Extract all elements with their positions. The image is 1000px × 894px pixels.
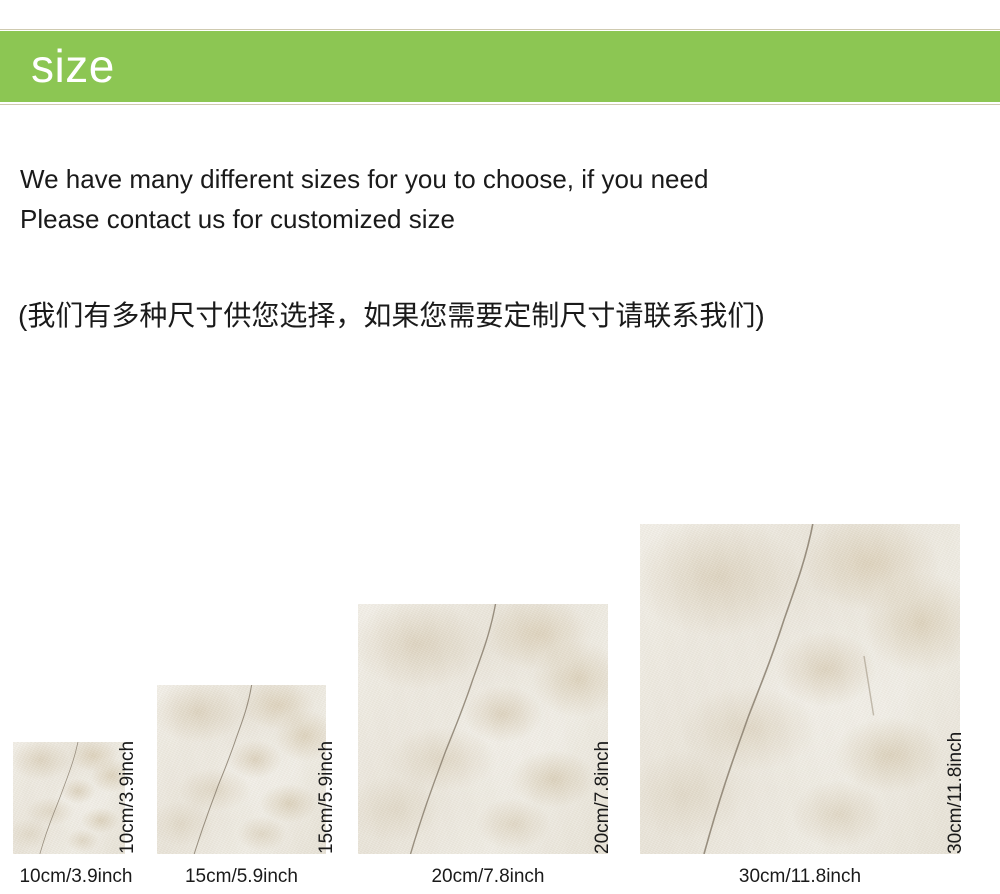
tile-group-10cm: 10cm/3.9inch 10cm/3.9inch	[0, 480, 152, 894]
tile-bottom-label-10cm: 10cm/3.9inch	[6, 860, 146, 894]
tile-swatch-15cm	[157, 685, 326, 854]
tile-group-20cm: 20cm/7.8inch 20cm/7.8inch	[342, 480, 640, 894]
tile-group-15cm: 15cm/5.9inch 15cm/5.9inch	[152, 480, 342, 894]
tile-vein-overlay	[640, 524, 960, 854]
tile-group-30cm: 30cm/11.8inch 30cm/11.8inch	[640, 480, 1000, 894]
tile-side-label-30cm: 30cm/11.8inch	[945, 732, 967, 854]
size-banner: size	[0, 31, 1000, 102]
tile-vein-overlay	[13, 742, 125, 854]
intro-text-english: We have many different sizes for you to …	[20, 159, 960, 239]
size-gallery: 10cm/3.9inch 10cm/3.9inch 15cm/5.9inch 1…	[0, 440, 1000, 894]
tile-swatch-20cm	[358, 604, 608, 854]
tile-swatch-10cm	[13, 742, 125, 854]
banner-top-rule	[0, 29, 1000, 30]
tile-bottom-label-15cm: 15cm/5.9inch	[170, 860, 313, 894]
tile-side-label-10cm: 10cm/3.9inch	[117, 741, 139, 854]
intro-text-chinese: (我们有多种尺寸供您选择，如果您需要定制尺寸请联系我们)	[18, 296, 968, 336]
tile-vein-overlay	[358, 604, 608, 854]
banner-bottom-rule	[0, 104, 1000, 105]
tile-swatch-30cm	[640, 524, 960, 854]
page-title: size	[31, 39, 115, 93]
tile-side-label-15cm: 15cm/5.9inch	[316, 741, 338, 854]
tile-side-label-20cm: 20cm/7.8inch	[592, 741, 614, 854]
tile-bottom-label-30cm: 30cm/11.8inch	[650, 860, 950, 894]
tile-bottom-label-20cm: 20cm/7.8inch	[418, 860, 558, 894]
tile-vein-overlay	[157, 685, 326, 854]
